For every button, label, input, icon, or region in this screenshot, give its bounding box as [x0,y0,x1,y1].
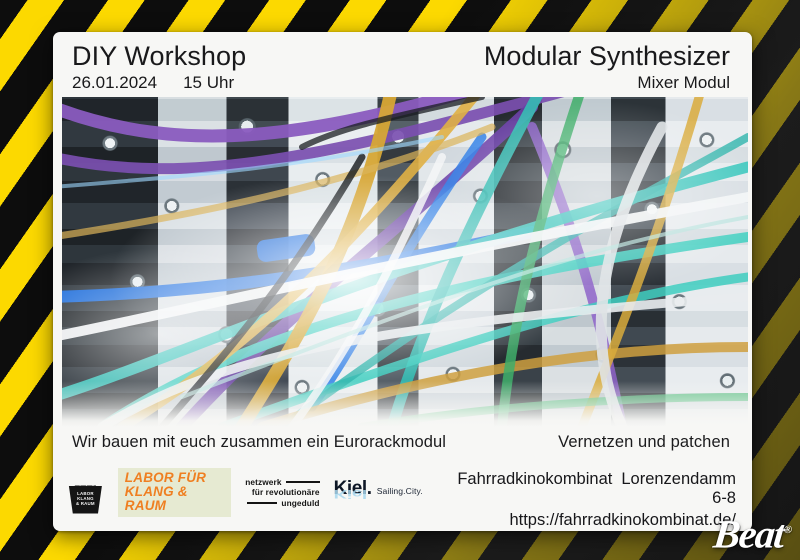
caption-left: Wir bauen mit euch zusammen ein Eurorack… [72,433,446,452]
labor-stamp-icon: LABORKLANG& RAUM [67,472,104,514]
nfru-line-1: netzwerk [245,477,281,488]
flyer-footer: LABORKLANG& RAUM LABOR FÜR KLANG & RAUM … [67,466,738,530]
beat-registered-icon: ® [783,524,792,536]
flyer-header: DIY Workshop Modular Synthesizer 26.01.2… [53,32,752,96]
synthesizer-photo [62,97,748,427]
beat-watermark: Beat® [712,510,794,554]
nfru-rule-bottom-icon [247,502,277,503]
logo-netzwerk-fuer-revolutionaere-ungeduld[interactable]: netzwerk für revolutionäre ungeduld [245,477,319,509]
photo-highlight-bloom [62,97,748,427]
module-title: Modular Synthesizer [484,40,732,72]
lfkr-line-1: LABOR FÜR [125,471,224,485]
photo-bottom-fade [62,381,748,427]
venue-street: Lorenzendamm 6-8 [621,470,736,507]
page-title: DIY Workshop [72,40,246,72]
stamp-label: LABORKLANG& RAUM [67,491,103,507]
flyer-card: DIY Workshop Modular Synthesizer 26.01.2… [53,32,752,531]
nfru-line-2: für revolutionäre [245,487,319,498]
event-date: 26.01.2024 [72,73,157,93]
venue-address: FahrradkinokombinatLorenzendamm 6-8 http… [439,466,738,530]
logo-kiel-sailing-city[interactable]: Kiel. Sailing.City. Kiel [334,478,427,508]
nfru-row-3: ungeduld [245,498,319,509]
event-datetime: 26.01.2024 15 Uhr [72,73,234,93]
kiel-reflection: Kiel [334,490,423,497]
header-title-row: DIY Workshop Modular Synthesizer [72,40,732,72]
beat-label: Beat [712,511,786,556]
poster-root: DIY Workshop Modular Synthesizer 26.01.2… [0,0,800,560]
caption-row: Wir bauen mit euch zusammen ein Eurorack… [72,433,730,452]
stamp-cup-shape: LABORKLANG& RAUM [67,486,103,514]
logo-labor-fuer-klang-und-raum[interactable]: LABOR FÜR KLANG & RAUM [118,468,231,517]
address-line-1: FahrradkinokombinatLorenzendamm 6-8 [439,470,736,508]
stamp-crown-shape [74,478,96,487]
event-time: 15 Uhr [183,73,234,93]
nfru-row-1: netzwerk [245,477,319,488]
module-subtitle: Mixer Modul [637,73,732,93]
venue-url[interactable]: https://fahrradkinokombinat.de/ [439,511,736,530]
header-subtitle-row: 26.01.2024 15 Uhr Mixer Modul [72,73,732,93]
nfru-rule-top-icon [286,481,320,482]
sponsor-logos: LABORKLANG& RAUM LABOR FÜR KLANG & RAUM … [67,466,427,517]
lfkr-line-2: KLANG & RAUM [125,485,224,513]
venue-name: Fahrradkinokombinat [457,470,612,488]
caption-right: Vernetzen und patchen [558,433,730,452]
nfru-line-3: ungeduld [281,498,319,509]
